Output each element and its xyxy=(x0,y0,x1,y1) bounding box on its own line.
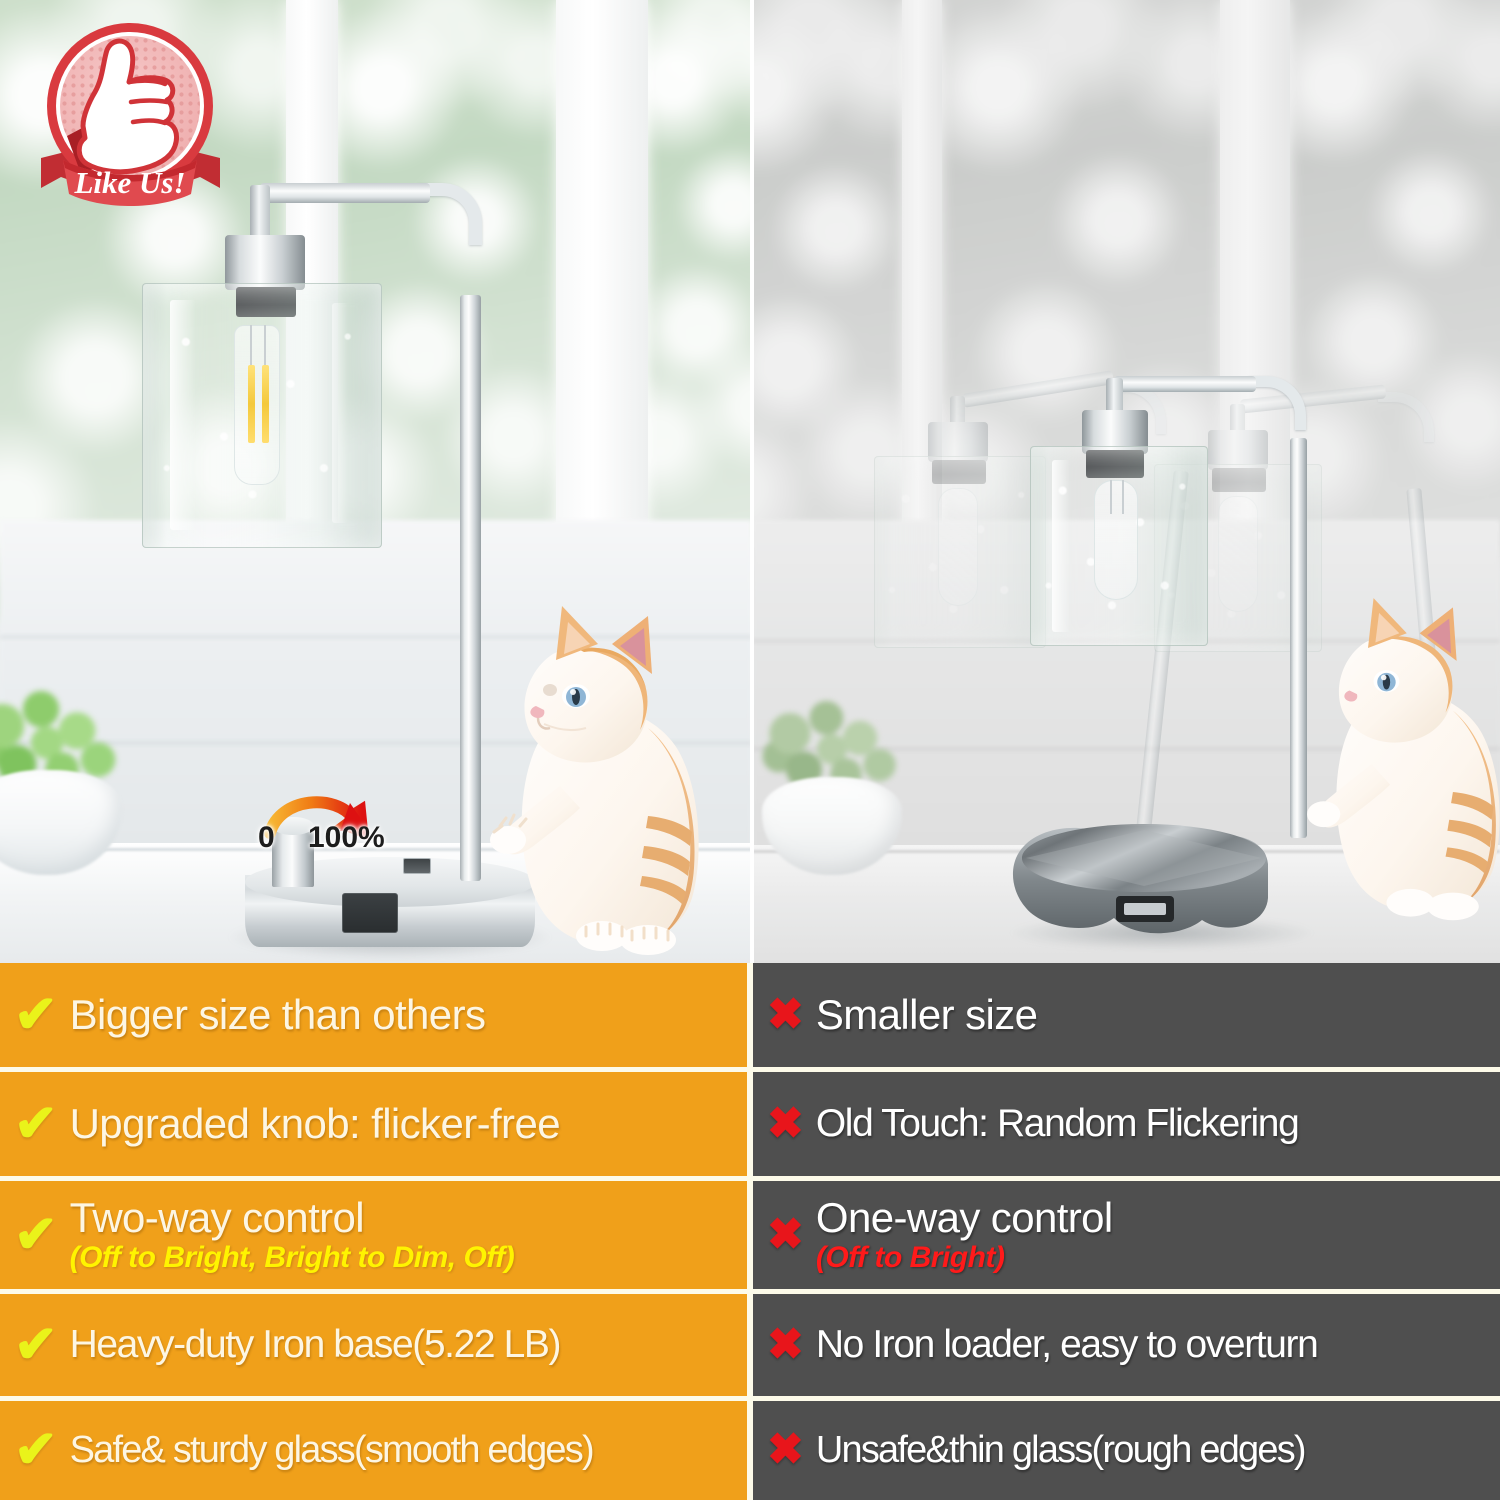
row-label: No Iron loader, easy to overturn xyxy=(816,1324,1490,1365)
table-row: ✖ Old Touch: Random Flickering xyxy=(753,1072,1500,1176)
row-label: Unsafe&thin glass(rough edges) xyxy=(816,1430,1490,1470)
our-product-column: ✔ Bigger size than others ✔ Upgraded kno… xyxy=(0,963,750,1500)
light-bulb xyxy=(1094,480,1138,600)
row-label: Old Touch: Random Flickering xyxy=(816,1103,1490,1144)
check-icon: ✔ xyxy=(14,1424,58,1476)
bulb-wire xyxy=(1122,480,1124,514)
bulb-filament xyxy=(262,365,269,443)
table-row: ✖ One-way control (Off to Bright) xyxy=(753,1181,1500,1289)
competitor-column: ✖ Smaller size ✖ Old Touch: Random Flick… xyxy=(750,963,1500,1500)
thumbs-up-icon[interactable]: Like Us! xyxy=(33,18,228,208)
row-text: Safe& sturdy glass(smooth edges) xyxy=(70,1430,737,1470)
row-label: Two-way control xyxy=(70,1196,737,1241)
lamp-arm xyxy=(1114,376,1256,392)
bulb-wire xyxy=(250,325,252,369)
comparison-table: ✔ Bigger size than others ✔ Upgraded kno… xyxy=(0,963,1500,1500)
check-icon: ✔ xyxy=(14,1319,58,1371)
shade-highlight xyxy=(170,300,196,530)
row-text: No Iron loader, easy to overturn xyxy=(816,1324,1490,1365)
check-icon: ✔ xyxy=(14,1098,58,1150)
lamp-socket-cap xyxy=(225,235,305,290)
light-bulb xyxy=(234,325,280,485)
plant-pot xyxy=(762,777,902,875)
row-text: Heavy-duty Iron base(5.22 LB) xyxy=(70,1324,737,1365)
table-row: ✔ Heavy-duty Iron base(5.22 LB) xyxy=(0,1294,747,1396)
row-label: Heavy-duty Iron base(5.22 LB) xyxy=(70,1324,737,1365)
table-row: ✖ No Iron loader, easy to overturn xyxy=(753,1294,1500,1396)
window-bokeh-right xyxy=(640,0,752,540)
row-text: Smaller size xyxy=(816,993,1490,1038)
badge-ribbon-text: Like Us! xyxy=(73,165,185,200)
bulb-wire xyxy=(264,325,266,369)
row-label: Upgraded knob: flicker-free xyxy=(70,1102,737,1147)
table-row: ✔ Bigger size than others xyxy=(0,963,747,1067)
row-text: Two-way control (Off to Bright, Bright t… xyxy=(70,1196,737,1274)
row-label: Safe& sturdy glass(smooth edges) xyxy=(70,1430,737,1470)
kitten-illustration xyxy=(452,578,712,963)
row-text: Old Touch: Random Flickering xyxy=(816,1103,1490,1144)
kitten-illustration xyxy=(1272,570,1500,930)
competitor-lamp-photo xyxy=(752,0,1500,963)
shade-highlight xyxy=(1052,460,1070,632)
like-us-badge[interactable]: Like Us! xyxy=(33,18,228,208)
check-icon: ✔ xyxy=(14,1209,58,1261)
bulb-filament xyxy=(248,365,255,443)
table-row: ✔ Safe& sturdy glass(smooth edges) xyxy=(0,1401,747,1500)
table-row: ✔ Two-way control (Off to Bright, Bright… xyxy=(0,1181,747,1289)
row-text: Unsafe&thin glass(rough edges) xyxy=(816,1430,1490,1470)
table-row: ✔ Upgraded knob: flicker-free xyxy=(0,1072,747,1176)
competitor-base xyxy=(1004,816,1304,956)
lamp-arm xyxy=(260,183,430,203)
row-text: One-way control (Off to Bright) xyxy=(816,1196,1490,1274)
bulb-wire xyxy=(1110,480,1112,514)
row-text: Upgraded knob: flicker-free xyxy=(70,1102,737,1147)
kitten-right xyxy=(1272,570,1500,930)
gauge-max-label: 100% xyxy=(308,821,385,855)
cross-icon: ✖ xyxy=(767,1323,804,1367)
cross-icon: ✖ xyxy=(767,1213,804,1257)
light-bulb xyxy=(938,488,978,606)
kitten-left xyxy=(452,578,712,963)
row-label: One-way control xyxy=(816,1196,1490,1241)
cross-icon: ✖ xyxy=(767,993,804,1037)
photo-divider xyxy=(750,0,754,963)
dimmer-gauge: 0 100% xyxy=(250,785,410,863)
row-sublabel: (Off to Bright) xyxy=(816,1242,1490,1274)
plant-pot xyxy=(0,770,122,875)
row-label: Smaller size xyxy=(816,993,1490,1038)
cross-icon: ✖ xyxy=(767,1428,804,1472)
lamp-elbow xyxy=(1248,376,1306,430)
row-sublabel: (Off to Bright, Bright to Dim, Off) xyxy=(70,1242,737,1274)
potted-plant-left xyxy=(0,690,162,875)
row-text: Bigger size than others xyxy=(70,993,737,1038)
shade-highlight xyxy=(332,303,348,523)
product-comparison-page: 0 100% xyxy=(0,0,1500,1500)
gauge-min-label: 0 xyxy=(258,821,275,855)
cross-icon: ✖ xyxy=(767,1102,804,1146)
row-label: Bigger size than others xyxy=(70,993,737,1038)
table-row: ✖ Unsafe&thin glass(rough edges) xyxy=(753,1401,1500,1500)
usb-port-panel xyxy=(342,893,398,933)
table-row: ✖ Smaller size xyxy=(753,963,1500,1067)
check-icon: ✔ xyxy=(14,989,58,1041)
